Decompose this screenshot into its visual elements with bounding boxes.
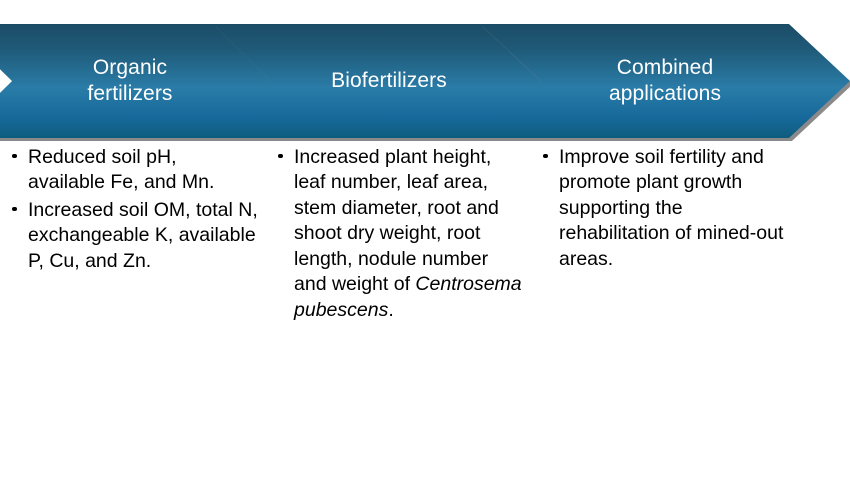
list-item-text: Increased soil OM, total N, exchangeable… — [28, 199, 258, 272]
bullet-list: Increased plant height, leaf number, lea… — [274, 145, 524, 323]
chevron-label-line-1: Organic — [93, 56, 167, 79]
chevron-label-line-1: Biofertilizers — [331, 69, 447, 92]
bullet-dot-icon — [278, 154, 283, 159]
bullet-dot-icon — [543, 154, 548, 159]
bullet-list: Reduced soil pH, available Fe, and Mn. I… — [8, 145, 258, 274]
list-item-text: Improve soil fertility and promote plant… — [559, 146, 783, 270]
list-item: Reduced soil pH, available Fe, and Mn. — [8, 145, 258, 196]
bullet-dot-icon — [12, 154, 17, 159]
list-item-text: Reduced soil pH, available Fe, and Mn. — [28, 146, 214, 193]
chevron-label-biofertilizers: Biofertilizers — [271, 24, 507, 138]
bullet-list: Improve soil fertility and promote plant… — [539, 145, 789, 272]
chevron-label-line-1: Combined — [617, 56, 714, 79]
list-item-text-tail: . — [388, 299, 393, 321]
chevron-stage-combined-applications[interactable]: Combined applications — [480, 24, 850, 138]
detail-column-combined-applications: Improve soil fertility and promote plant… — [539, 145, 789, 274]
detail-column-organic-fertilizers: Reduced soil pH, available Fe, and Mn. I… — [8, 145, 258, 276]
chevron-label-combined-applications: Combined applications — [541, 24, 789, 138]
bullet-dot-icon — [12, 207, 17, 212]
chevron-process-diagram: Organic fertilizers Biofertilizers Combi… — [0, 0, 850, 478]
detail-column-biofertilizers: Increased plant height, leaf number, lea… — [274, 145, 524, 325]
chevron-label-line-2: fertilizers — [87, 82, 172, 105]
stage-detail-columns: Reduced soil pH, available Fe, and Mn. I… — [0, 145, 850, 478]
chevron-label-organic-fertilizers: Organic fertilizers — [12, 24, 248, 138]
list-item: Improve soil fertility and promote plant… — [539, 145, 789, 272]
list-item: Increased plant height, leaf number, lea… — [274, 145, 524, 323]
chevron-label-line-2: applications — [609, 82, 721, 105]
list-item: Increased soil OM, total N, exchangeable… — [8, 198, 258, 274]
chevron-header-band: Organic fertilizers Biofertilizers Combi… — [0, 0, 850, 145]
